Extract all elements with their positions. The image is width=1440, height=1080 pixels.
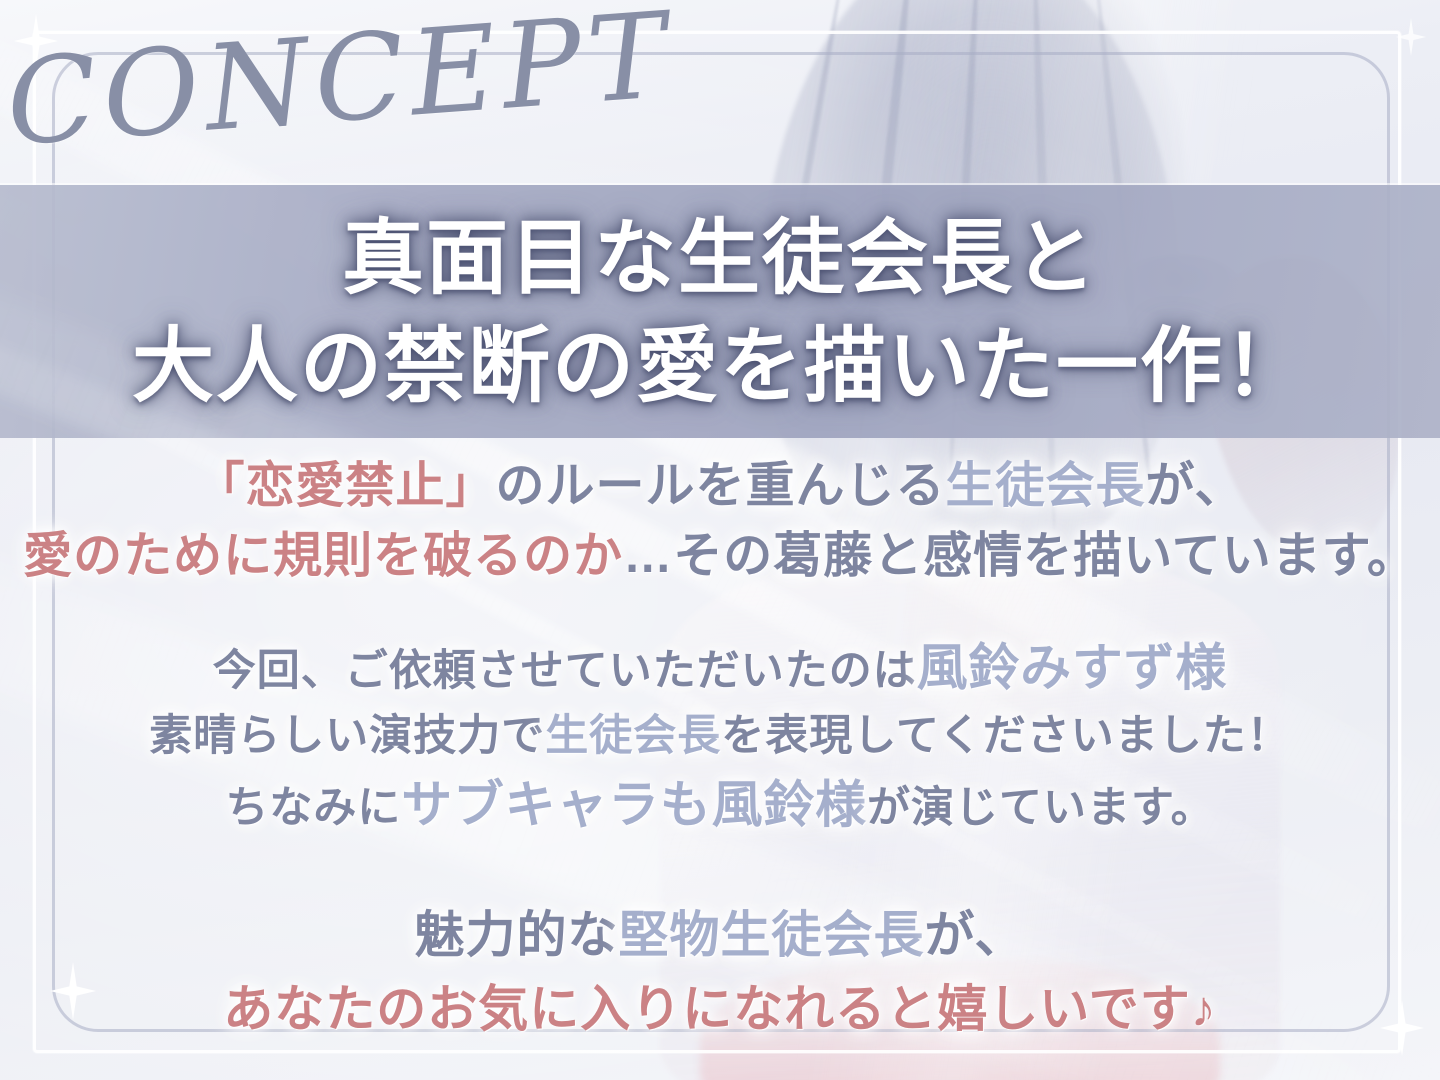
text-run: 「恋愛禁止」	[195, 459, 495, 513]
text-run: 堅物生徒会長	[619, 907, 925, 963]
text-run: が、	[1146, 459, 1245, 513]
paragraph-cast-credit: 今回、ご依頼させていただいたのは風鈴みすず様素晴らしい演技力で生徒会長を表現して…	[0, 631, 1440, 842]
text-run: 風鈴みすず様	[917, 639, 1227, 696]
text-line: 愛のために規則を破るのか…その葛藤と感情を描いています。	[0, 522, 1440, 592]
text-run: 魅力的な	[415, 907, 619, 963]
text-run: のルールを重んじる	[495, 459, 945, 513]
text-run: …その葛藤と感情を描いています。	[623, 529, 1417, 583]
text-run: 愛のために規則を破るのか	[23, 529, 623, 583]
text-run: サブキャラも風鈴様	[401, 776, 867, 833]
headline: 真面目な生徒会長と 大人の禁断の愛を描いた一作！	[0, 205, 1440, 421]
text-run: 素晴らしい演技力で	[149, 712, 545, 760]
body-copy: 「恋愛禁止」のルールを重んじる生徒会長が、愛のために規則を破るのか…その葛藤と感…	[0, 452, 1440, 1046]
headline-line-2: 大人の禁断の愛を描いた一作！	[0, 313, 1440, 421]
text-run: 今回、ご依頼させていただいたのは	[213, 647, 917, 695]
text-line: 素晴らしい演技力で生徒会長を表現してくださいました！	[0, 705, 1440, 768]
text-line: 「恋愛禁止」のルールを重んじる生徒会長が、	[0, 452, 1440, 522]
text-line: あなたのお気に入りになれると嬉しいです♪	[0, 972, 1440, 1046]
concept-slide: CONCEPT 真面目な生徒会長と 大人の禁断の愛を描いた一作！ 「恋愛禁止」の…	[0, 0, 1440, 1080]
text-run: が、	[925, 907, 1026, 963]
text-run: ちなみに	[225, 784, 401, 832]
text-run: 生徒会長	[545, 712, 721, 760]
text-line: ちなみにサブキャラも風鈴様が演じています。	[0, 768, 1440, 842]
headline-line-1: 真面目な生徒会長と	[342, 213, 1098, 304]
text-line: 今回、ご依頼させていただいたのは風鈴みすず様	[0, 631, 1440, 705]
text-run: が演じています。	[867, 784, 1215, 832]
text-run: を表現してくださいました！	[721, 712, 1290, 760]
text-run: あなたのお気に入りになれると嬉しいです♪	[223, 981, 1217, 1037]
text-line: 魅力的な堅物生徒会長が、	[0, 898, 1440, 972]
text-run: 生徒会長	[945, 459, 1145, 513]
paragraph-concept-rule: 「恋愛禁止」のルールを重んじる生徒会長が、愛のために規則を破るのか…その葛藤と感…	[0, 452, 1440, 591]
paragraph-closing: 魅力的な堅物生徒会長が、あなたのお気に入りになれると嬉しいです♪	[0, 898, 1440, 1046]
